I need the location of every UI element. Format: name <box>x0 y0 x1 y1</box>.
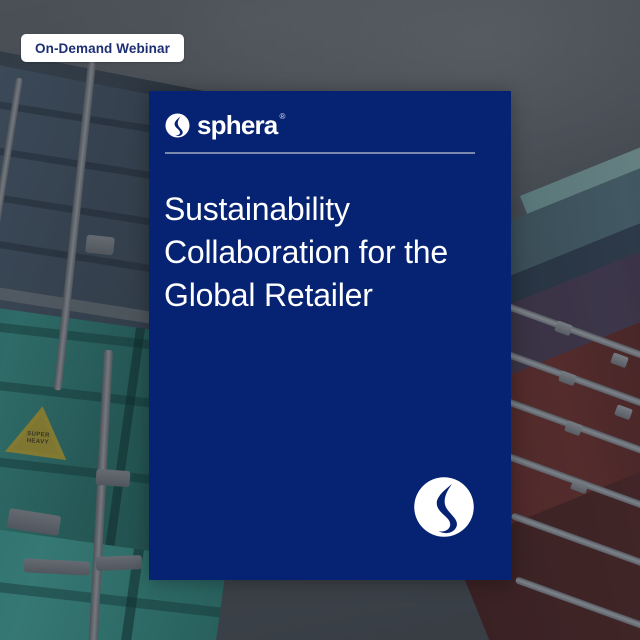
trademark-symbol: ® <box>279 112 285 121</box>
sphera-logo[interactable]: sphera ® <box>165 110 285 140</box>
sphera-footer-mark-icon <box>413 476 475 538</box>
sphera-s-circle-icon <box>165 113 190 138</box>
panel-divider <box>165 152 475 154</box>
content-panel: sphera ® Sustainability Collaboration fo… <box>149 91 511 580</box>
page-title: Sustainability Collaboration for the Glo… <box>164 188 494 317</box>
sphera-wordmark: sphera <box>197 112 277 138</box>
webinar-promo-card: SUPER HEAVY On-De <box>0 0 640 640</box>
on-demand-webinar-badge[interactable]: On-Demand Webinar <box>21 34 184 62</box>
